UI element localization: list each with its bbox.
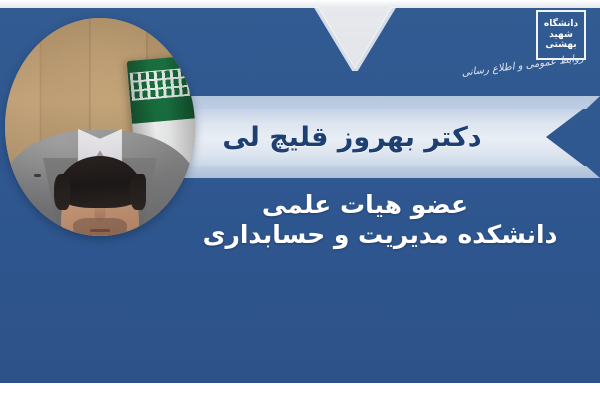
university-logo: دانشگاه شهید بهشتی روابط عمومی و اطلاع ر…: [500, 10, 586, 96]
faculty-name: دانشکده مدیریت و حسابداری: [172, 220, 592, 250]
name-ribbon: دکتر بهروز قلیچ لی: [150, 96, 600, 178]
portrait-overlay: [5, 18, 195, 236]
university-logo-text: دانشگاه شهید بهشتی: [538, 19, 584, 52]
portrait-avatar: [5, 18, 195, 236]
profile-card: دکتر بهروز قلیچ لی عضو هیات علمی دانشکده…: [0, 0, 600, 400]
person-name: دکتر بهروز قلیچ لی: [150, 96, 554, 178]
role-title: عضو هیات علمی: [172, 190, 592, 220]
role-subtitle: عضو هیات علمی دانشکده مدیریت و حسابداری: [172, 190, 592, 249]
